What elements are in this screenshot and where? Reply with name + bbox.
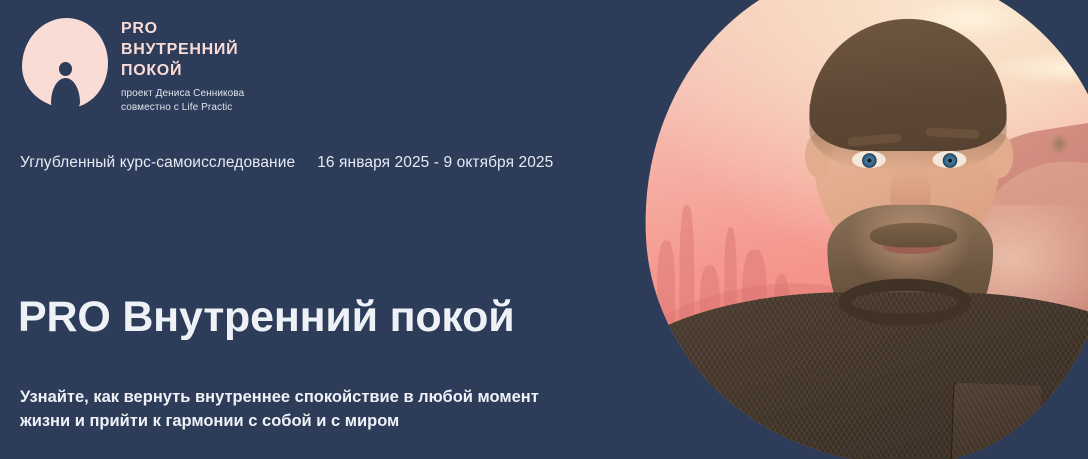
brand-logo[interactable]: PRO ВНУТРЕННИЙ ПОКОЙ проект Дениса Сенни… — [18, 14, 244, 114]
eye-left — [852, 151, 886, 168]
iris-right — [943, 153, 958, 168]
iris-left — [862, 153, 877, 168]
person-figure — [628, 0, 1088, 459]
mustache — [870, 223, 957, 248]
logo-text-group: PRO ВНУТРЕННИЙ ПОКОЙ проект Дениса Сенни… — [121, 14, 244, 114]
portrait-photo — [628, 0, 1088, 459]
logo-subtitle: проект Дениса Сенникова совместно с Life… — [121, 87, 244, 113]
course-type-label: Углубленный курс-самоисследование — [20, 154, 295, 172]
hero-subcopy: Узнайте, как вернуть внутреннее спокойст… — [20, 385, 560, 434]
figure-head-icon — [59, 62, 72, 76]
sweater-collar — [839, 279, 971, 326]
course-meta: Углубленный курс-самоисследование 16 янв… — [20, 154, 553, 172]
eye-right — [933, 151, 967, 168]
page-title: PRO Внутренний покой — [18, 296, 514, 339]
logo-title: PRO ВНУТРЕННИЙ ПОКОЙ — [121, 18, 244, 81]
course-hero-banner: PRO ВНУТРЕННИЙ ПОКОЙ проект Дениса Сенни… — [0, 0, 1088, 459]
portrait-image-inner — [628, 0, 1088, 459]
petal-figure-icon — [18, 14, 110, 112]
sweater-pocket — [951, 383, 1042, 459]
course-dates-label: 16 января 2025 - 9 октября 2025 — [317, 154, 553, 172]
